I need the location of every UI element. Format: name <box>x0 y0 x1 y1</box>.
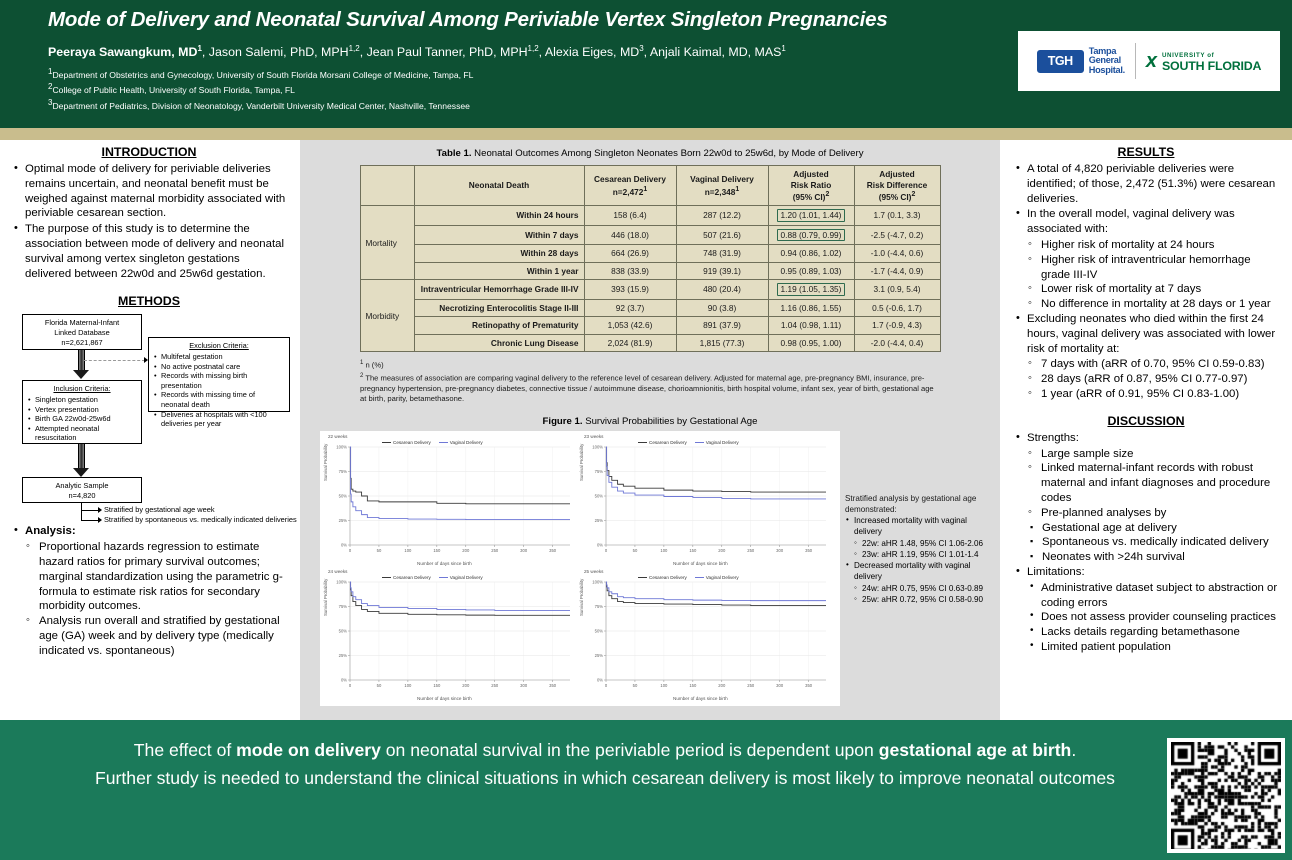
list-item: In the overall model, vaginal delivery w… <box>1012 207 1280 237</box>
flow-strat-branch-1 <box>81 510 99 511</box>
header-cesarean-sup: 1 <box>643 186 647 193</box>
group-label-morbidity: Morbidity <box>360 280 414 352</box>
svg-text:100%: 100% <box>336 580 347 585</box>
svg-text:200: 200 <box>718 548 726 553</box>
cell-arr: 0.95 (0.89, 1.03) <box>768 262 854 280</box>
svg-text:300: 300 <box>520 683 528 688</box>
header-corner <box>360 166 414 206</box>
conclusion-emph-2: gestational age at birth <box>879 740 1072 760</box>
stratified-intro-2: demonstrated: <box>845 504 990 515</box>
header-text-block: Mode of Delivery and Neonatal Survival A… <box>48 6 998 112</box>
svg-text:150: 150 <box>689 548 697 553</box>
discussion-heading: DISCUSSION <box>1012 414 1280 428</box>
list-item: Excluding neonates who died within the f… <box>1012 312 1280 356</box>
list-item: Strengths: <box>1012 431 1280 446</box>
svg-text:50%: 50% <box>339 494 348 499</box>
list-item: Lacks details regarding betamethasone <box>1026 625 1280 640</box>
svg-text:150: 150 <box>433 548 441 553</box>
row-label: Necrotizing Enterocolitis Stage II-III <box>414 299 584 317</box>
table-row: Mortality Within 24 hours 158 (6.4) 287 … <box>360 206 940 226</box>
qr-code[interactable] <box>1167 738 1285 853</box>
svg-text:250: 250 <box>491 683 499 688</box>
cell-vaginal: 90 (3.8) <box>676 299 768 317</box>
svg-text:75%: 75% <box>339 469 348 474</box>
affiliations: 1Department of Obstetrics and Gynecology… <box>48 66 998 112</box>
qr-code-canvas[interactable] <box>1171 742 1281 849</box>
figure-caption-text: Survival Probabilities by Gestational Ag… <box>583 416 758 427</box>
svg-text:200: 200 <box>718 683 726 688</box>
analysis-label: Analysis: <box>10 524 288 539</box>
list-item: Records with missing birth presentation <box>153 371 285 390</box>
introduction-heading: INTRODUCTION <box>10 145 288 159</box>
header-cesarean-l1: Cesarean Delivery <box>594 174 666 184</box>
table-caption: Table 1. Neonatal Outcomes Among Singlet… <box>300 148 1000 159</box>
flow-db-line1: Florida Maternal-Infant <box>27 318 137 328</box>
header-ard-l3: (95% CI) <box>879 192 912 202</box>
svg-text:75%: 75% <box>595 469 604 474</box>
poster-body: INTRODUCTION Optimal mode of delivery fo… <box>0 140 1292 720</box>
conclusion-line2c: . <box>1071 740 1076 760</box>
svg-text:350: 350 <box>805 683 813 688</box>
list-item: Deliveries at hospitals with <100 delive… <box>153 410 285 429</box>
cell-ard: 1.7 (-0.9, 4.3) <box>854 317 940 335</box>
list-item: Pre-planned analyses by <box>1026 506 1280 521</box>
header-arr-l3: (95% CI) <box>793 192 826 202</box>
list-item: Multifetal gestation <box>153 352 285 362</box>
survival-panel-0: 22 weeksCesarean DeliveryVaginal Deliver… <box>322 433 575 566</box>
cell-cesarean: 158 (6.4) <box>584 206 676 226</box>
svg-text:50%: 50% <box>339 629 348 634</box>
list-item: Large sample size <box>1026 447 1280 462</box>
cell-cesarean: 838 (33.9) <box>584 262 676 280</box>
list-item: Optimal mode of delivery for periviable … <box>10 162 288 221</box>
svg-text:50: 50 <box>633 548 638 553</box>
list-item: 22w: aHR 1.48, 95% CI 1.06-2.06 <box>853 538 990 549</box>
header-ard-sup: 2 <box>911 191 915 198</box>
flow-strat-arrow-2 <box>98 517 102 523</box>
flow-box-database: Florida Maternal-Infant Linked Database … <box>22 314 142 350</box>
row-label: Retinopathy of Prematurity <box>414 317 584 335</box>
cell-cesarean: 393 (15.9) <box>584 280 676 300</box>
right-column: RESULTS A total of 4,820 periviable deli… <box>1000 140 1292 720</box>
list-item: 23w: aHR 1.19, 95% CI 1.01-1.4 <box>853 549 990 560</box>
list-item: Proportional hazards regression to estim… <box>24 540 288 614</box>
logo-container: TGH Tampa General Hospital. x UNIVERSITY… <box>1018 31 1280 91</box>
svg-text:100%: 100% <box>592 445 603 450</box>
cell-arr: 0.88 (0.79, 0.99) <box>768 225 854 245</box>
results-section: RESULTS A total of 4,820 periviable deli… <box>1000 140 1292 655</box>
list-item: Singleton gestation <box>27 395 137 405</box>
header-cesarean-l2: n=2,472 <box>613 187 644 197</box>
flow-sample-line2: n=4,820 <box>27 491 137 501</box>
results-bullets-1: A total of 4,820 periviable deliveries w… <box>1012 162 1280 237</box>
cell-vaginal: 480 (20.4) <box>676 280 768 300</box>
stratified-sub-2: 24w: aHR 0.75, 95% CI 0.63-0.89 25w: aHR… <box>853 583 990 605</box>
flow-box-exclusion: Exclusion Criteria: Multifetal gestation… <box>148 337 290 412</box>
table-row: Chronic Lung Disease 2,024 (81.9) 1,815 … <box>360 334 940 352</box>
svg-text:250: 250 <box>491 548 499 553</box>
stratified-bullets-2: Decreased mortality with vaginal deliver… <box>845 560 990 582</box>
left-column: INTRODUCTION Optimal mode of delivery fo… <box>0 140 300 720</box>
survival-plot-3: 100%75%50%25%0%050100150200250300350 <box>578 568 831 701</box>
flow-dashed-connector <box>84 360 145 361</box>
list-item: Birth GA 22w0d-25w6d <box>27 414 137 424</box>
svg-text:25%: 25% <box>339 518 348 523</box>
flow-arrowhead-1 <box>73 370 89 379</box>
tgh-monogram-icon: TGH <box>1037 50 1084 73</box>
introduction-bullets: Optimal mode of delivery for periviable … <box>10 162 288 281</box>
list-item: No difference in mortality at 28 days or… <box>1026 297 1280 312</box>
svg-text:100: 100 <box>404 548 412 553</box>
svg-text:250: 250 <box>747 548 755 553</box>
list-item: Linked maternal-infant records with robu… <box>1026 461 1280 505</box>
usf-bull-icon: x <box>1146 50 1157 73</box>
tgh-logo: TGH Tampa General Hospital. <box>1031 47 1125 75</box>
cell-arr: 1.16 (0.86, 1.55) <box>768 299 854 317</box>
header-ard: Adjusted Risk Difference (95% CI)2 <box>854 166 940 206</box>
usf-word-big: SOUTH FLORIDA <box>1162 61 1261 71</box>
discussion-limitations-bullet: Limitations: <box>1012 565 1280 580</box>
flow-strat-arrow-1 <box>98 507 102 513</box>
svg-text:150: 150 <box>433 683 441 688</box>
cell-ard: -1.0 (-4.4, 0.6) <box>854 245 940 263</box>
discussion-strengths-list: Large sample size Linked maternal-infant… <box>1026 447 1280 521</box>
cell-cesarean: 92 (3.7) <box>584 299 676 317</box>
list-item: The purpose of this study is to determin… <box>10 222 288 281</box>
table-caption-label: Table 1. <box>437 148 472 159</box>
list-item: 7 days with (aRR of 0.70, 95% CI 0.59-0.… <box>1026 357 1280 372</box>
svg-text:0%: 0% <box>341 543 347 548</box>
list-item: Administrative dataset subject to abstra… <box>1026 581 1280 611</box>
svg-text:350: 350 <box>549 683 557 688</box>
cell-cesarean: 446 (18.0) <box>584 225 676 245</box>
svg-text:100%: 100% <box>592 580 603 585</box>
list-item: Spontaneous vs. medically indicated deli… <box>1028 535 1280 550</box>
figure-row: 22 weeksCesarean DeliveryVaginal Deliver… <box>310 431 990 706</box>
stratified-intro-1: Stratified analysis by gestational age <box>845 493 990 504</box>
flow-box-inclusion: Inclusion Criteria: Singleton gestation … <box>22 380 142 444</box>
cell-ard: 0.5 (-0.6, 1.7) <box>854 299 940 317</box>
results-sublist-1: Higher risk of mortality at 24 hours Hig… <box>1026 238 1280 312</box>
svg-text:100: 100 <box>660 683 668 688</box>
flow-box-sample: Analytic Sample n=4,820 <box>22 477 142 503</box>
cell-ard: -2.5 (-4.7, 0.2) <box>854 225 940 245</box>
list-item: Lower risk of mortality at 7 days <box>1026 282 1280 297</box>
row-label: Intraventricular Hemorrhage Grade III-IV <box>414 280 584 300</box>
tgh-word-line3: Hospital. <box>1089 66 1125 75</box>
list-item: Analysis run overall and stratified by g… <box>24 614 288 658</box>
cell-ard: -2.0 (-4.4, 0.4) <box>854 334 940 352</box>
svg-text:25%: 25% <box>595 518 604 523</box>
list-item: 25w: aHR 0.72, 95% CI 0.58-0.90 <box>853 594 990 605</box>
table-row: Within 28 days 664 (26.9) 748 (31.9) 0.9… <box>360 245 940 263</box>
header-ard-l1: Adjusted <box>879 169 915 179</box>
inclusion-list: Singleton gestation Vertex presentation … <box>27 395 137 443</box>
header-vaginal-l2: n=2,348 <box>705 187 736 197</box>
arr-highlight: 1.19 (1.05, 1.35) <box>777 283 846 296</box>
cell-arr: 0.94 (0.86, 1.02) <box>768 245 854 263</box>
cell-arr: 1.04 (0.98, 1.11) <box>768 317 854 335</box>
svg-text:0%: 0% <box>341 678 347 683</box>
svg-text:300: 300 <box>776 683 784 688</box>
cell-cesarean: 1,053 (42.6) <box>584 317 676 335</box>
list-item: 24w: aHR 0.75, 95% CI 0.63-0.89 <box>853 583 990 594</box>
svg-text:0: 0 <box>605 548 608 553</box>
list-item: 28 days (aRR of 0.87, 95% CI 0.77-0.97) <box>1026 372 1280 387</box>
svg-text:0: 0 <box>349 683 352 688</box>
flow-strat-label-2: Stratified by spontaneous vs. medically … <box>104 515 297 524</box>
series-cesarean <box>606 447 826 492</box>
svg-text:300: 300 <box>520 548 528 553</box>
svg-text:250: 250 <box>747 683 755 688</box>
table-body: Mortality Within 24 hours 158 (6.4) 287 … <box>360 206 940 352</box>
svg-text:75%: 75% <box>595 604 604 609</box>
svg-text:0%: 0% <box>597 543 603 548</box>
cell-vaginal: 1,815 (77.3) <box>676 334 768 352</box>
series-vaginal <box>606 582 826 601</box>
analysis-sublist: Proportional hazards regression to estim… <box>24 540 288 658</box>
figure-caption-label: Figure 1. <box>543 416 583 427</box>
cell-ard: -1.7 (-4.4, 0.9) <box>854 262 940 280</box>
cell-ard: 3.1 (0.9, 5.4) <box>854 280 940 300</box>
cell-vaginal: 919 (39.1) <box>676 262 768 280</box>
survival-plot-1: 100%75%50%25%0%050100150200250300350 <box>578 433 831 566</box>
conclusion-line3: Further study is needed to understand th… <box>95 768 1115 788</box>
svg-text:50%: 50% <box>595 494 604 499</box>
cell-arr: 1.19 (1.05, 1.35) <box>768 280 854 300</box>
tgh-wordmark: Tampa General Hospital. <box>1089 47 1125 75</box>
header-arr: Adjusted Risk Ratio (95% CI)2 <box>768 166 854 206</box>
header-vaginal: Vaginal Delivery n=2,3481 <box>676 166 768 206</box>
svg-text:0: 0 <box>349 548 352 553</box>
introduction-section: INTRODUCTION Optimal mode of delivery fo… <box>0 140 300 308</box>
svg-text:200: 200 <box>462 683 470 688</box>
svg-text:50: 50 <box>377 683 382 688</box>
list-item: Vertex presentation <box>27 405 137 415</box>
header-ard-l2: Risk Difference <box>867 180 927 190</box>
cell-vaginal: 891 (37.9) <box>676 317 768 335</box>
table-row: Retinopathy of Prematurity 1,053 (42.6) … <box>360 317 940 335</box>
header-outcome: Neonatal Death <box>414 166 584 206</box>
analysis-label-text: Analysis: <box>25 525 76 537</box>
list-item: No active postnatal care <box>153 362 285 372</box>
svg-text:350: 350 <box>549 548 557 553</box>
figure-caption: Figure 1. Survival Probabilities by Gest… <box>300 416 1000 427</box>
author-list: Peeraya Sawangkum, MD1, Jason Salemi, Ph… <box>48 41 998 60</box>
svg-text:50: 50 <box>377 548 382 553</box>
survival-panel-2: 24 weeksCesarean DeliveryVaginal Deliver… <box>322 568 575 701</box>
list-item: 1 year (aRR of 0.91, 95% CI 0.83-1.00) <box>1026 387 1280 402</box>
svg-text:150: 150 <box>689 683 697 688</box>
flow-strat-branch-2 <box>81 520 99 521</box>
analysis-bullets: Analysis: <box>10 524 288 539</box>
survival-plot-0: 100%75%50%25%0%050100150200250300350 <box>322 433 575 566</box>
flow-sample-line1: Analytic Sample <box>27 481 137 491</box>
cell-vaginal: 507 (21.6) <box>676 225 768 245</box>
survival-panel-1: 23 weeksCesarean DeliveryVaginal Deliver… <box>578 433 831 566</box>
svg-text:50: 50 <box>633 683 638 688</box>
arr-highlight: 0.88 (0.79, 0.99) <box>777 229 846 242</box>
svg-text:350: 350 <box>805 548 813 553</box>
analysis-section: Analysis: Proportional hazards regressio… <box>0 524 300 658</box>
discussion-strengths-bullet: Strengths: <box>1012 431 1280 446</box>
svg-text:100%: 100% <box>336 445 347 450</box>
conclusion-line1c: on neonatal survival in the periviable p… <box>381 740 879 760</box>
row-label: Within 1 year <box>414 262 584 280</box>
poster-root: Mode of Delivery and Neonatal Survival A… <box>0 0 1292 860</box>
svg-text:300: 300 <box>776 548 784 553</box>
flow-arrowhead-2 <box>73 468 89 477</box>
svg-text:200: 200 <box>462 548 470 553</box>
table-row: Within 7 days 446 (18.0) 507 (21.6) 0.88… <box>360 225 940 245</box>
conclusion-banner: The effect of mode on delivery on neonat… <box>0 720 1292 860</box>
svg-text:50%: 50% <box>595 629 604 634</box>
list-item: Records with missing time of neonatal de… <box>153 390 285 409</box>
table-caption-text: Neonatal Outcomes Among Singleton Neonat… <box>472 148 864 159</box>
cell-arr: 1.20 (1.01, 1.44) <box>768 206 854 226</box>
table-footnote-2: 2 The measures of association are compar… <box>360 371 940 404</box>
flow-strat-stem <box>81 503 82 520</box>
header-arr-sup: 2 <box>825 191 829 198</box>
methods-heading: METHODS <box>10 294 288 308</box>
header-vaginal-sup: 1 <box>735 186 739 193</box>
inclusion-title: Inclusion Criteria: <box>27 384 137 394</box>
exclusion-title: Exclusion Criteria: <box>153 341 285 351</box>
list-item: A total of 4,820 periviable deliveries w… <box>1012 162 1280 206</box>
results-heading: RESULTS <box>1012 145 1280 159</box>
discussion-limitations-list: Administrative dataset subject to abstra… <box>1026 581 1280 655</box>
exclusion-list: Multifetal gestation No active postnatal… <box>153 352 285 429</box>
list-item: Limited patient population <box>1026 640 1280 655</box>
list-item: Increased mortality with vaginal deliver… <box>845 515 990 537</box>
svg-text:100: 100 <box>404 683 412 688</box>
page-title: Mode of Delivery and Neonatal Survival A… <box>48 6 998 33</box>
list-item: Does not assess provider counseling prac… <box>1026 610 1280 625</box>
cell-arr: 0.98 (0.95, 1.00) <box>768 334 854 352</box>
survival-figure: 22 weeksCesarean DeliveryVaginal Deliver… <box>320 431 840 706</box>
row-label: Chronic Lung Disease <box>414 334 584 352</box>
methods-flowchart: Florida Maternal-Infant Linked Database … <box>0 312 300 522</box>
header-arr-l2: Risk Ratio <box>791 180 832 190</box>
series-cesarean <box>350 447 570 504</box>
series-cesarean <box>606 582 826 606</box>
flow-arrow-2 <box>78 444 85 469</box>
svg-text:25%: 25% <box>339 653 348 658</box>
arr-highlight: 1.20 (1.01, 1.44) <box>777 209 846 222</box>
svg-text:25%: 25% <box>595 653 604 658</box>
survival-plot-2: 100%75%50%25%0%050100150200250300350 <box>322 568 575 701</box>
flow-db-line3: n=2,621,867 <box>27 338 137 348</box>
usf-logo: x UNIVERSITY of SOUTH FLORIDA <box>1146 50 1267 73</box>
logo-divider <box>1135 43 1136 79</box>
usf-wordmark: UNIVERSITY of SOUTH FLORIDA <box>1162 51 1261 71</box>
results-bullets-2: Excluding neonates who died within the f… <box>1012 312 1280 356</box>
neonatal-outcomes-table: Neonatal Death Cesarean Delivery n=2,472… <box>360 165 941 352</box>
table-row: Morbidity Intraventricular Hemorrhage Gr… <box>360 280 940 300</box>
cell-vaginal: 287 (12.2) <box>676 206 768 226</box>
table-footnotes: 1 n (%) 2 The measures of association ar… <box>360 358 940 404</box>
header-vaginal-l1: Vaginal Delivery <box>690 174 754 184</box>
series-vaginal <box>350 582 570 610</box>
svg-text:0: 0 <box>605 683 608 688</box>
list-item: Gestational age at delivery <box>1028 521 1280 536</box>
survival-panel-3: 25 weeksCesarean DeliveryVaginal Deliver… <box>578 568 831 701</box>
cell-vaginal: 748 (31.9) <box>676 245 768 263</box>
tan-divider-band <box>0 128 1292 140</box>
list-item: Higher risk of mortality at 24 hours <box>1026 238 1280 253</box>
table-row: Necrotizing Enterocolitis Stage II-III 9… <box>360 299 940 317</box>
poster-header: Mode of Delivery and Neonatal Survival A… <box>0 0 1292 128</box>
table-row: Within 1 year 838 (33.9) 919 (39.1) 0.95… <box>360 262 940 280</box>
table-footnote-1: 1 n (%) <box>360 358 940 371</box>
list-item: Attempted neonatal resuscitation <box>27 424 137 443</box>
list-item: Limitations: <box>1012 565 1280 580</box>
conclusion-emph-1: mode on delivery <box>236 740 381 760</box>
results-sublist-2: 7 days with (aRR of 0.70, 95% CI 0.59-0.… <box>1026 357 1280 401</box>
group-label-mortality: Mortality <box>360 206 414 280</box>
svg-text:0%: 0% <box>597 678 603 683</box>
conclusion-line1a: The effect of <box>134 740 236 760</box>
flow-db-line2: Linked Database <box>27 328 137 338</box>
row-label: Within 28 days <box>414 245 584 263</box>
cell-cesarean: 2,024 (81.9) <box>584 334 676 352</box>
list-item: Neonates with >24h survival <box>1028 550 1280 565</box>
list-item: Decreased mortality with vaginal deliver… <box>845 560 990 582</box>
table-header-row: Neonatal Death Cesarean Delivery n=2,472… <box>360 166 940 206</box>
flow-strat-label-1: Stratified by gestational age week <box>104 505 215 514</box>
svg-text:100: 100 <box>660 548 668 553</box>
cell-cesarean: 664 (26.9) <box>584 245 676 263</box>
discussion-preplanned-list: Gestational age at delivery Spontaneous … <box>1028 521 1280 565</box>
conclusion-text: The effect of mode on delivery on neonat… <box>60 736 1150 792</box>
row-label: Within 7 days <box>414 225 584 245</box>
middle-column: Table 1. Neonatal Outcomes Among Singlet… <box>300 140 1000 720</box>
stratified-analysis-note: Stratified analysis by gestational age d… <box>845 493 990 605</box>
stratified-sub-1: 22w: aHR 1.48, 95% CI 1.06-2.06 23w: aHR… <box>853 538 990 560</box>
stratified-bullets: Increased mortality with vaginal deliver… <box>845 515 990 537</box>
svg-text:75%: 75% <box>339 604 348 609</box>
row-label: Within 24 hours <box>414 206 584 226</box>
header-arr-l1: Adjusted <box>793 169 829 179</box>
header-cesarean: Cesarean Delivery n=2,4721 <box>584 166 676 206</box>
series-vaginal <box>350 447 570 520</box>
cell-ard: 1.7 (0.1, 3.3) <box>854 206 940 226</box>
list-item: Higher risk of intraventricular hemorrha… <box>1026 253 1280 283</box>
